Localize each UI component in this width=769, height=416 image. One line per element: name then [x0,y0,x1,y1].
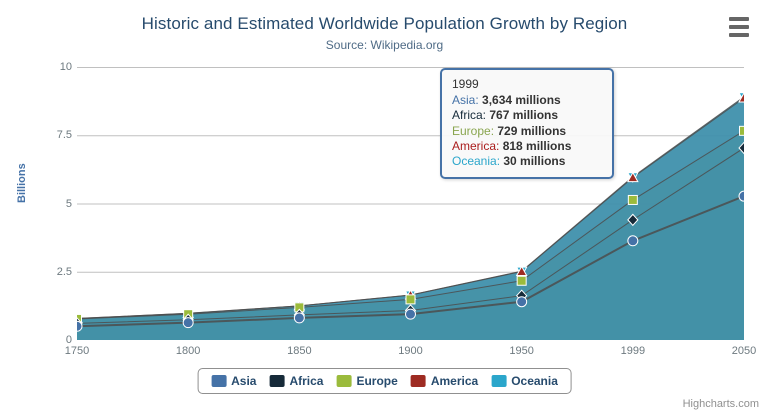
tooltip-row: Oceania: 30 millions [452,154,602,169]
x-axis-tick-label: 1999 [621,345,645,357]
x-axis-tick-label: 1850 [287,345,311,357]
tooltip-series-name: Asia: [452,93,482,107]
legend-swatch-icon [269,375,284,387]
tooltip: 1999 Asia: 3,634 millionsAfrica: 767 mil… [440,68,614,179]
x-axis-tick-label: 2050 [732,345,756,357]
tooltip-series-name: Europe: [452,124,497,138]
data-point-europe-1950[interactable] [517,276,526,285]
x-axis-tick-label: 1950 [509,345,533,357]
x-axis-labels: 1750180018501900195019992050 [77,345,744,363]
tooltip-series-name: America: [452,139,503,153]
y-axis-labels: 02.557.510 [14,0,72,416]
highcharts-container: Historic and Estimated Worldwide Populat… [0,0,769,416]
tooltip-series-name: Africa: [452,108,489,122]
tooltip-row: Africa: 767 millions [452,108,602,123]
legend-swatch-icon [336,375,351,387]
legend-label: Asia [231,374,256,388]
legend-label: Oceania [511,374,558,388]
tooltip-series-value: 729 millions [497,124,566,138]
hamburger-bar-3 [729,33,749,37]
legend-item-asia[interactable]: Asia [211,374,256,388]
data-point-europe-1900[interactable] [406,295,415,304]
legend-item-africa[interactable]: Africa [269,374,323,388]
plot-area [77,67,744,340]
y-axis-tick-label: 2.5 [24,266,72,278]
legend-label: America [431,374,478,388]
tooltip-row: America: 818 millions [452,139,602,154]
data-point-europe-2050[interactable] [740,126,745,135]
hamburger-bar-1 [729,17,749,21]
chart-legend: AsiaAfricaEuropeAmericaOceania [197,368,572,394]
chart-svg [77,67,744,340]
tooltip-series-name: Oceania: [452,154,503,168]
x-axis-tick-label: 1750 [65,345,89,357]
tooltip-series-value: 30 millions [503,154,565,168]
data-point-asia-1950[interactable] [517,297,527,307]
y-axis-tick-label: 5 [24,198,72,210]
y-axis-tick-label: 7.5 [24,129,72,141]
legend-swatch-icon [411,375,426,387]
credits-label[interactable]: Highcharts.com [683,398,759,410]
hamburger-menu-icon[interactable] [727,16,751,38]
x-axis-tick-label: 1900 [398,345,422,357]
data-point-asia-1900[interactable] [406,309,416,319]
tooltip-series-value: 3,634 millions [482,93,561,107]
data-point-asia-1800[interactable] [183,318,193,328]
legend-item-america[interactable]: America [411,374,478,388]
chart-title: Historic and Estimated Worldwide Populat… [0,14,769,34]
legend-item-europe[interactable]: Europe [336,374,397,388]
legend-item-oceania[interactable]: Oceania [491,374,558,388]
legend-swatch-icon [211,375,226,387]
chart-subtitle: Source: Wikipedia.org [0,38,769,52]
data-point-asia-1850[interactable] [294,313,304,323]
legend-label: Europe [356,374,397,388]
tooltip-header: 1999 [452,77,602,93]
data-point-europe-1999[interactable] [628,195,637,204]
hamburger-bar-2 [729,25,749,29]
tooltip-rows: Asia: 3,634 millionsAfrica: 767 millions… [452,93,602,169]
legend-swatch-icon [491,375,506,387]
y-axis-tick-label: 10 [24,61,72,73]
tooltip-series-value: 767 millions [489,108,558,122]
tooltip-series-value: 818 millions [503,139,572,153]
x-axis-tick-label: 1800 [176,345,200,357]
legend-label: Africa [289,374,323,388]
data-point-asia-1999[interactable] [628,236,638,246]
tooltip-row: Asia: 3,634 millions [452,93,602,108]
tooltip-row: Europe: 729 millions [452,124,602,139]
